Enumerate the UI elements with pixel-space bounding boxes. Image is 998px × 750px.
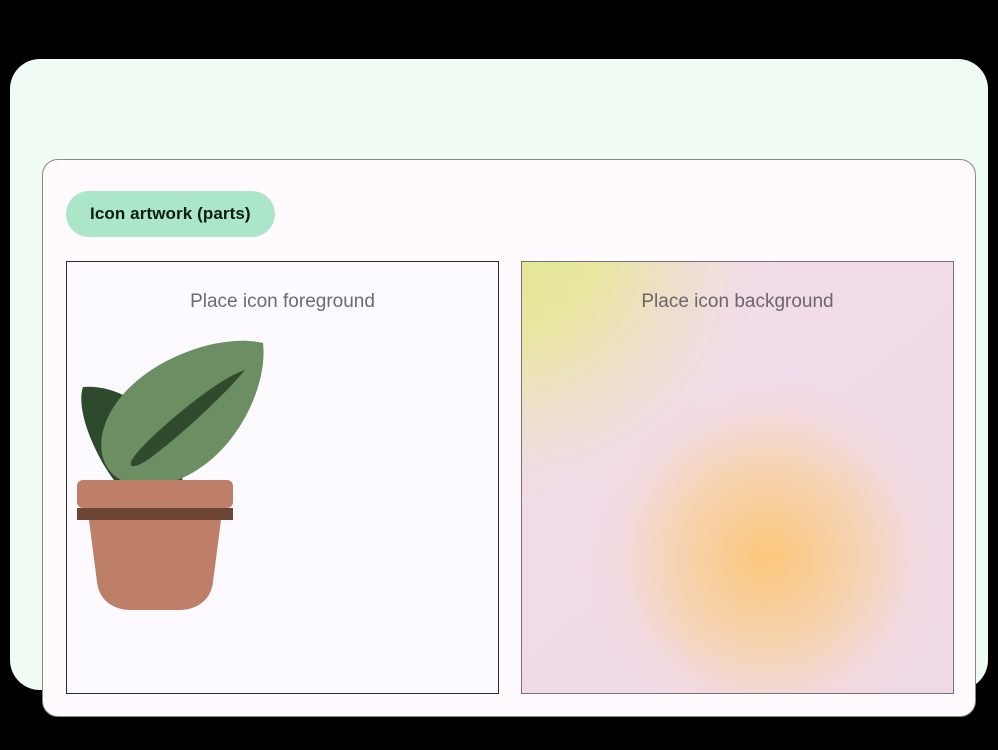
status-badge: Icon artwork (parts) — [66, 191, 275, 237]
potted-plant-icon — [67, 334, 500, 634]
pot-body-shape — [89, 520, 221, 610]
panel-icon-background[interactable]: Place icon background — [521, 261, 954, 694]
pot-band-shape — [77, 508, 233, 520]
panel-background-label: Place icon background — [522, 291, 953, 313]
artwork-card: Icon artwork (parts) Place icon foregrou… — [42, 159, 976, 717]
app-shell: Icon artwork (parts) Place icon foregrou… — [10, 59, 988, 690]
panel-icon-foreground[interactable]: Place icon foreground — [66, 261, 499, 694]
screen: Icon artwork (parts) Place icon foregrou… — [0, 0, 998, 750]
pot-rim-shape — [77, 480, 233, 508]
panel-foreground-label: Place icon foreground — [67, 291, 498, 313]
